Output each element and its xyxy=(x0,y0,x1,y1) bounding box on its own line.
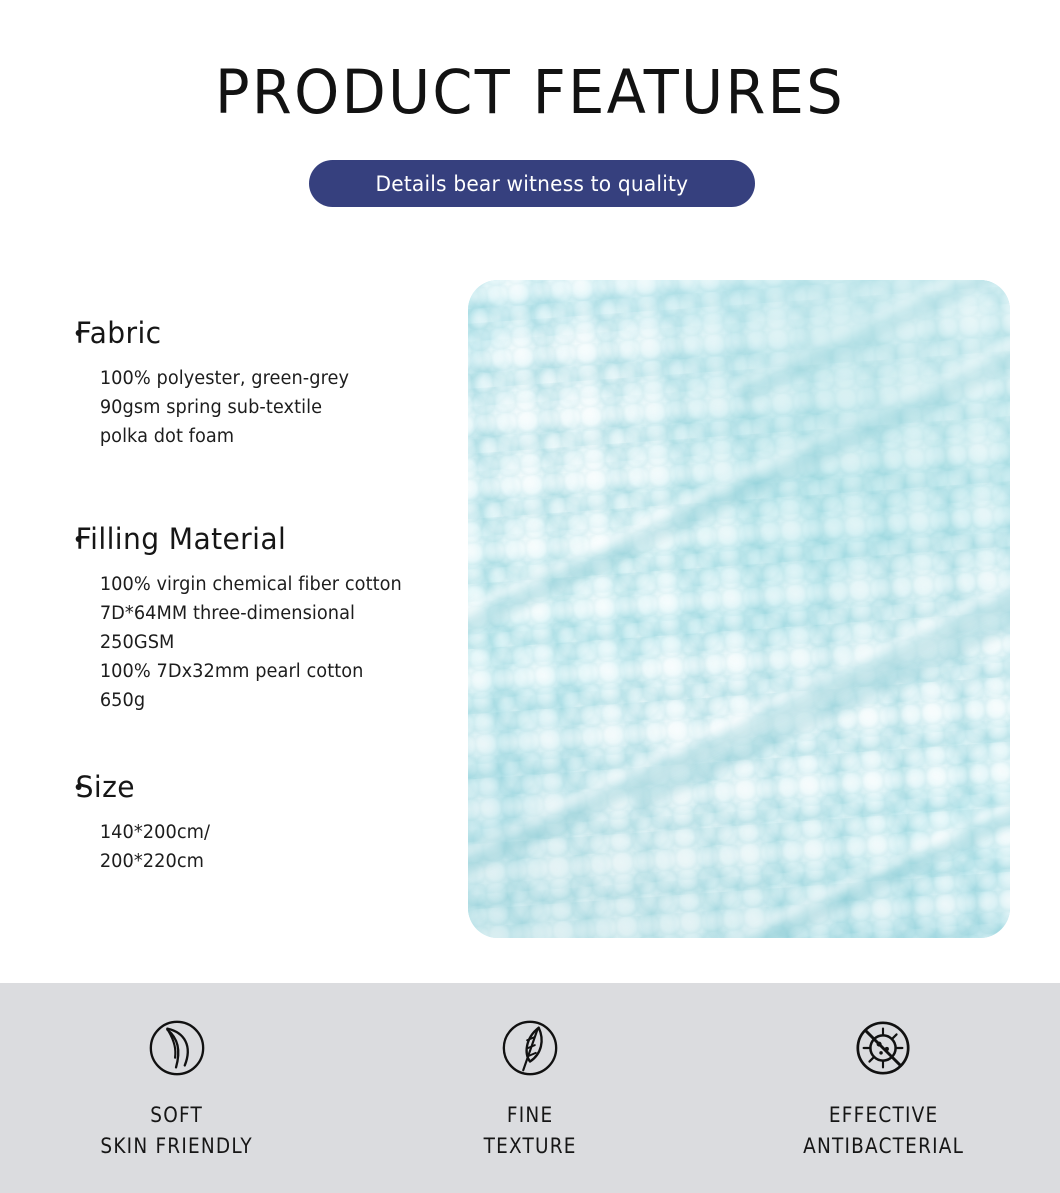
page-title: PRODUCT FEATURES xyxy=(32,62,1028,123)
feature-label-soft-skin-friendly: SOFT SKIN FRIENDLY xyxy=(100,1100,253,1162)
product-features-page: PRODUCT FEATURES Details bear witness to… xyxy=(0,0,1060,1193)
feature-item-soft-skin-friendly: SOFT SKIN FRIENDLY xyxy=(0,983,353,1193)
spec-heading-label: Size xyxy=(76,772,135,804)
spec-line: 90gsm spring sub-textile xyxy=(100,393,442,422)
bullet-icon xyxy=(76,536,82,542)
feature-label-fine-texture: FINE TEXTURE xyxy=(483,1100,576,1162)
spec-line: 100% polyester, green-grey xyxy=(100,364,442,393)
spec-line: 100% 7Dx32mm pearl cotton xyxy=(100,657,442,686)
spec-lines-size: 140*200cm/ 200*220cm xyxy=(0,818,442,876)
bullet-icon xyxy=(76,330,82,336)
feature-bar: SOFT SKIN FRIENDLY FINE TEXTURE xyxy=(0,983,1060,1193)
photo-shading-layer xyxy=(468,280,1010,938)
feature-label-line1: FINE xyxy=(483,1100,576,1131)
subtitle-badge-label: Details bear witness to quality xyxy=(376,172,689,196)
spec-line: 650g xyxy=(100,686,442,715)
feature-item-fine-texture: FINE TEXTURE xyxy=(353,983,706,1193)
spec-line: 140*200cm/ xyxy=(100,818,442,847)
spec-heading-filling-material: Filling Material xyxy=(0,524,446,556)
spec-line: 7D*64MM three-dimensional xyxy=(100,599,442,628)
spec-block-size: Size 140*200cm/ 200*220cm xyxy=(0,772,460,876)
leaf-feather-circle-icon xyxy=(499,1017,561,1079)
feature-label-line2: SKIN FRIENDLY xyxy=(100,1131,253,1162)
spec-heading-label: Filling Material xyxy=(76,524,287,556)
feature-item-effective-antibacterial: EFFECTIVE ANTIBACTERIAL xyxy=(707,983,1060,1193)
feature-label-effective-antibacterial: EFFECTIVE ANTIBACTERIAL xyxy=(803,1100,964,1162)
feature-items: SOFT SKIN FRIENDLY FINE TEXTURE xyxy=(0,983,1060,1193)
spec-line: 250GSM xyxy=(100,628,442,657)
soft-feather-circle-icon xyxy=(146,1017,208,1079)
spec-line: polka dot foam xyxy=(100,422,442,451)
spec-heading-fabric: Fabric xyxy=(0,318,446,350)
spec-block-fabric: Fabric 100% polyester, green-grey 90gsm … xyxy=(0,318,460,451)
no-bacteria-icon xyxy=(852,1017,914,1079)
feature-label-line2: ANTIBACTERIAL xyxy=(803,1131,964,1162)
feature-label-line2: TEXTURE xyxy=(483,1131,576,1162)
spec-line: 100% virgin chemical fiber cotton xyxy=(100,570,442,599)
spec-lines-filling-material: 100% virgin chemical fiber cotton 7D*64M… xyxy=(0,570,442,715)
spec-lines-fabric: 100% polyester, green-grey 90gsm spring … xyxy=(0,364,442,451)
spec-heading-size: Size xyxy=(0,772,446,804)
subtitle-badge: Details bear witness to quality xyxy=(309,160,755,207)
product-photo xyxy=(468,280,1010,938)
spec-block-filling-material: Filling Material 100% virgin chemical fi… xyxy=(0,524,460,715)
spec-heading-label: Fabric xyxy=(76,318,162,350)
feature-label-line1: EFFECTIVE xyxy=(803,1100,964,1131)
spec-line: 200*220cm xyxy=(100,847,442,876)
bullet-icon xyxy=(76,784,82,790)
feature-label-line1: SOFT xyxy=(100,1100,253,1131)
